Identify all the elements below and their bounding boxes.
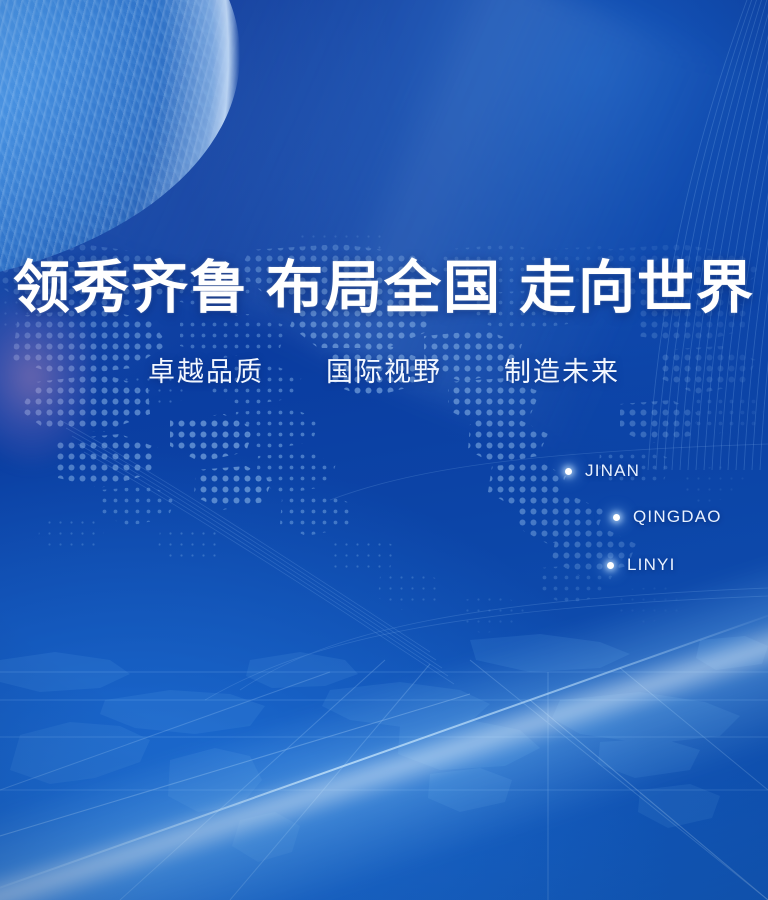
- headline-block: 领秀齐鲁布局全国走向世界 卓越品质国际视野制造未来: [0, 258, 768, 389]
- earth-globe: [0, 0, 240, 290]
- halftone-dot-map: [0, 0, 768, 900]
- location-dot-icon: [565, 468, 572, 475]
- city-label: QINGDAO: [633, 507, 722, 527]
- perspective-grid: [0, 0, 768, 900]
- light-ray-thin: [0, 608, 768, 900]
- page-title: 领秀齐鲁布局全国走向世界: [0, 258, 768, 320]
- headline-part-2: 布局全国: [266, 257, 502, 320]
- vignette-overlay: [0, 0, 768, 900]
- location-dot-icon: [613, 514, 620, 521]
- lens-flare-pink: [0, 285, 90, 470]
- map-marker-linyi[interactable]: LINYI: [607, 555, 676, 575]
- city-label: LINYI: [627, 555, 676, 575]
- subline-part-2: 国际视野: [326, 357, 442, 387]
- globe-texture: [0, 0, 240, 290]
- globe-glow: [0, 0, 390, 440]
- city-label: JINAN: [585, 461, 640, 481]
- subline-part-1: 卓越品质: [148, 357, 264, 387]
- globe-body: [0, 0, 240, 290]
- light-streak-bottom: [0, 429, 768, 900]
- world-map-silhouette: [0, 0, 768, 900]
- location-dot-icon: [607, 562, 614, 569]
- light-sweep-top: [59, 0, 741, 456]
- background-gradient: [0, 0, 768, 900]
- promo-banner: 领秀齐鲁布局全国走向世界 卓越品质国际视野制造未来 JINAN QINGDAO …: [0, 0, 768, 900]
- headline-part-3: 走向世界: [519, 257, 755, 320]
- orbital-arcs: [0, 0, 768, 900]
- globe-atmosphere-limb: [0, 0, 240, 290]
- map-marker-qingdao[interactable]: QINGDAO: [613, 507, 722, 527]
- page-subtitle: 卓越品质国际视野制造未来: [0, 350, 768, 389]
- subline-part-3: 制造未来: [504, 357, 620, 387]
- map-marker-jinan[interactable]: JINAN: [565, 461, 640, 481]
- headline-part-1: 领秀齐鲁: [13, 257, 249, 320]
